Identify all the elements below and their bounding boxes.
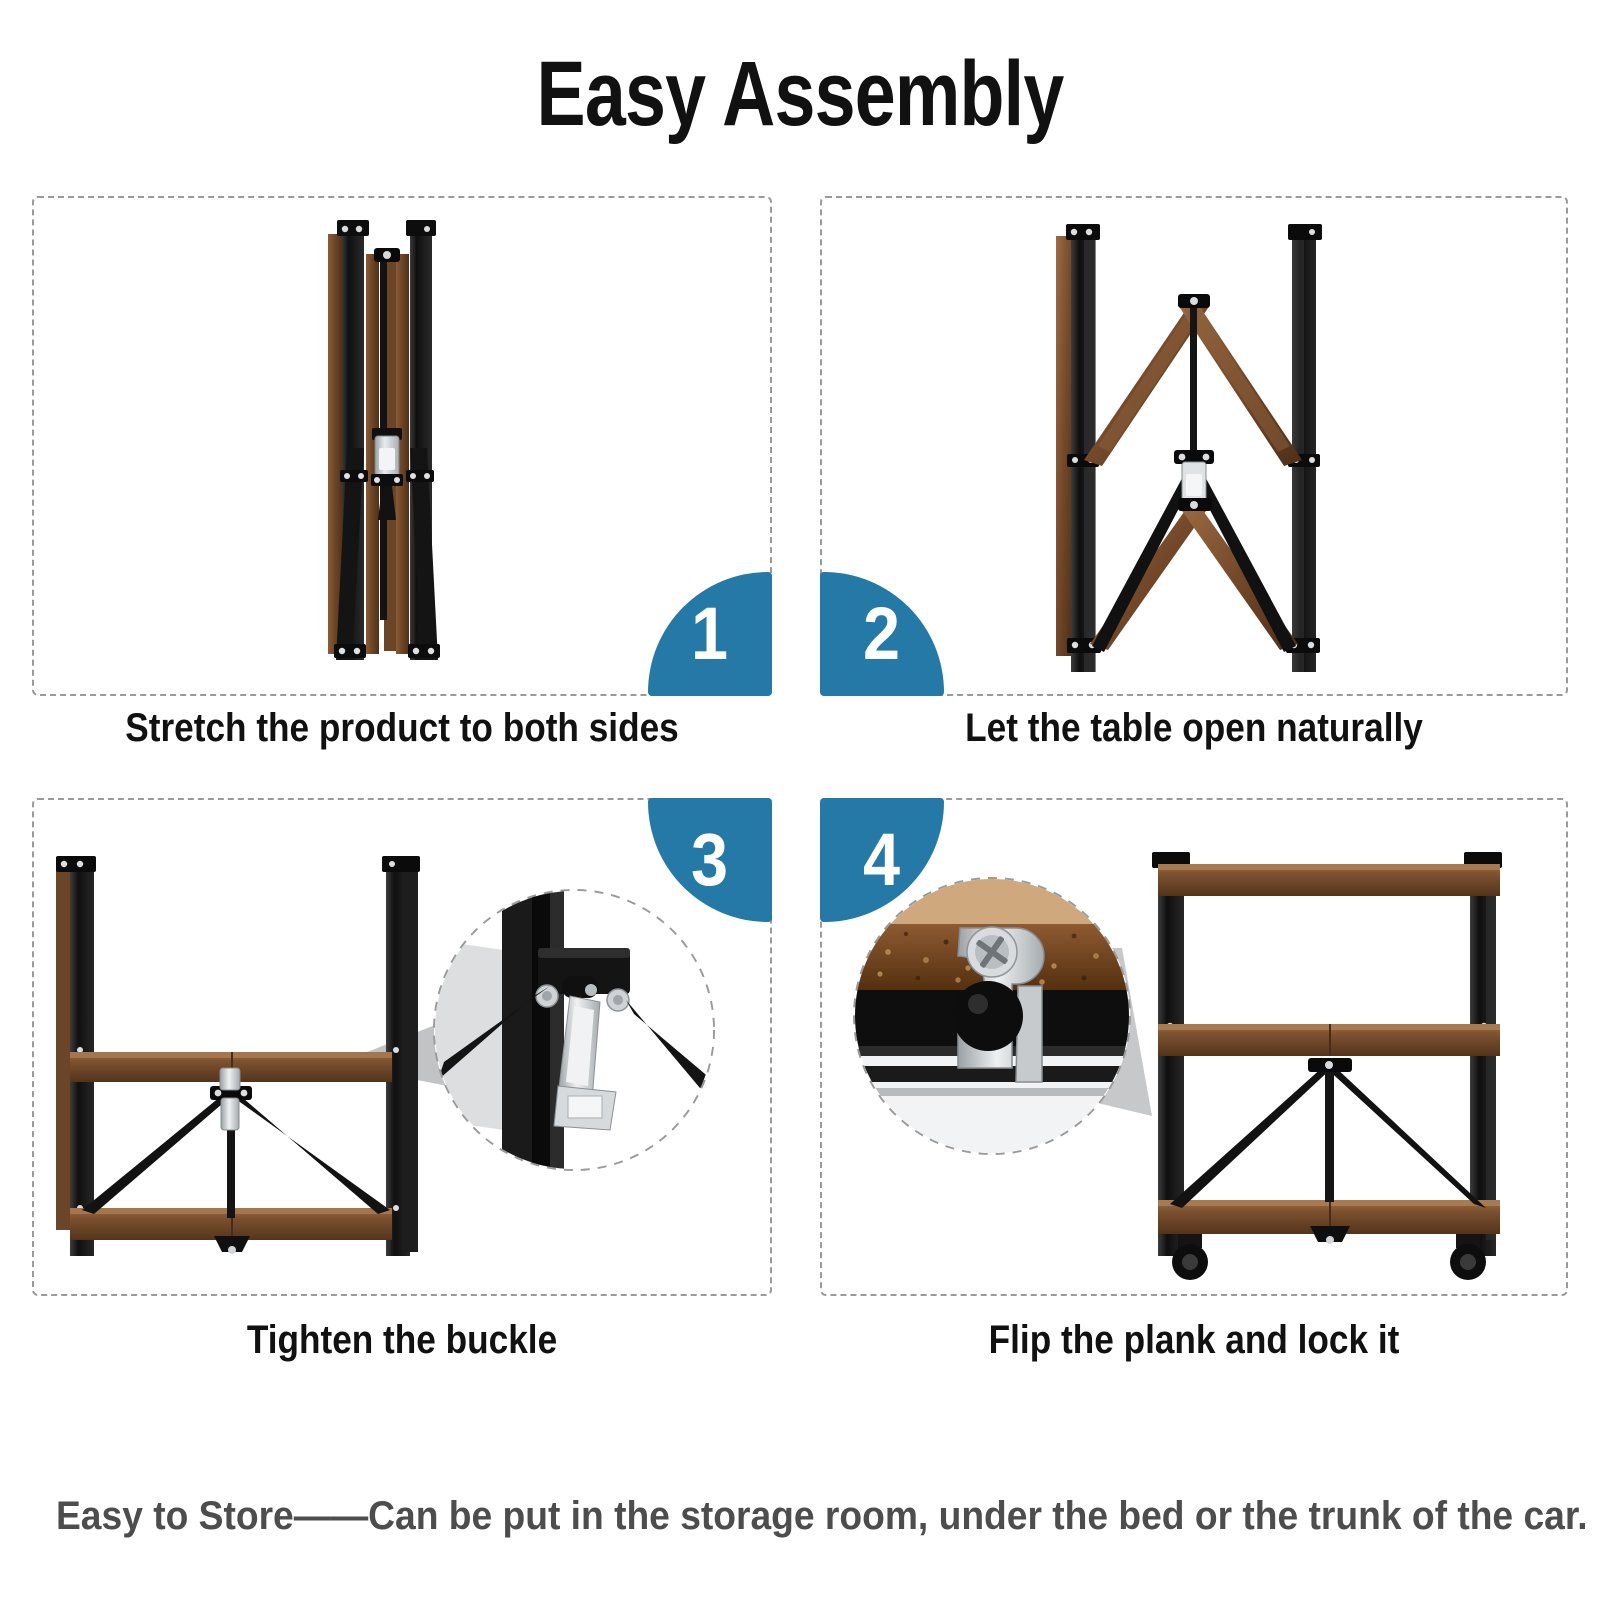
step-badge-2-number: 2 [863,597,900,671]
step-panel-2 [820,196,1568,696]
step-panel-3 [32,798,772,1296]
assembly-instruction-graphic: Easy Assembly [0,0,1600,1600]
step-badge-3-number: 3 [691,823,728,897]
page-title: Easy Assembly [160,48,1440,140]
footer-note: Easy to Store——Can be put in the storage… [56,1494,1544,1539]
illustration-shelf-open-with-buckle-detail [34,800,770,1294]
magnifier-inset-buckle [434,890,724,1170]
step-panel-4 [820,798,1568,1296]
step-caption-3: Tighten the buckle [76,1318,727,1363]
illustration-assembled-shelf-with-casters [822,800,1566,1294]
step-caption-1: Stretch the product to both sides [76,706,727,751]
step-caption-2: Let the table open naturally [865,706,1523,751]
illustration-shelf-opening-chevron [822,198,1566,694]
step-badge-1-number: 1 [691,597,728,671]
illustration-folded-shelf-flat [34,198,770,694]
step-caption-4: Flip the plank and lock it [865,1318,1523,1363]
magnifier-inset-lock [854,878,1130,1154]
step-panel-1 [32,196,772,696]
step-badge-4-number: 4 [863,823,900,897]
